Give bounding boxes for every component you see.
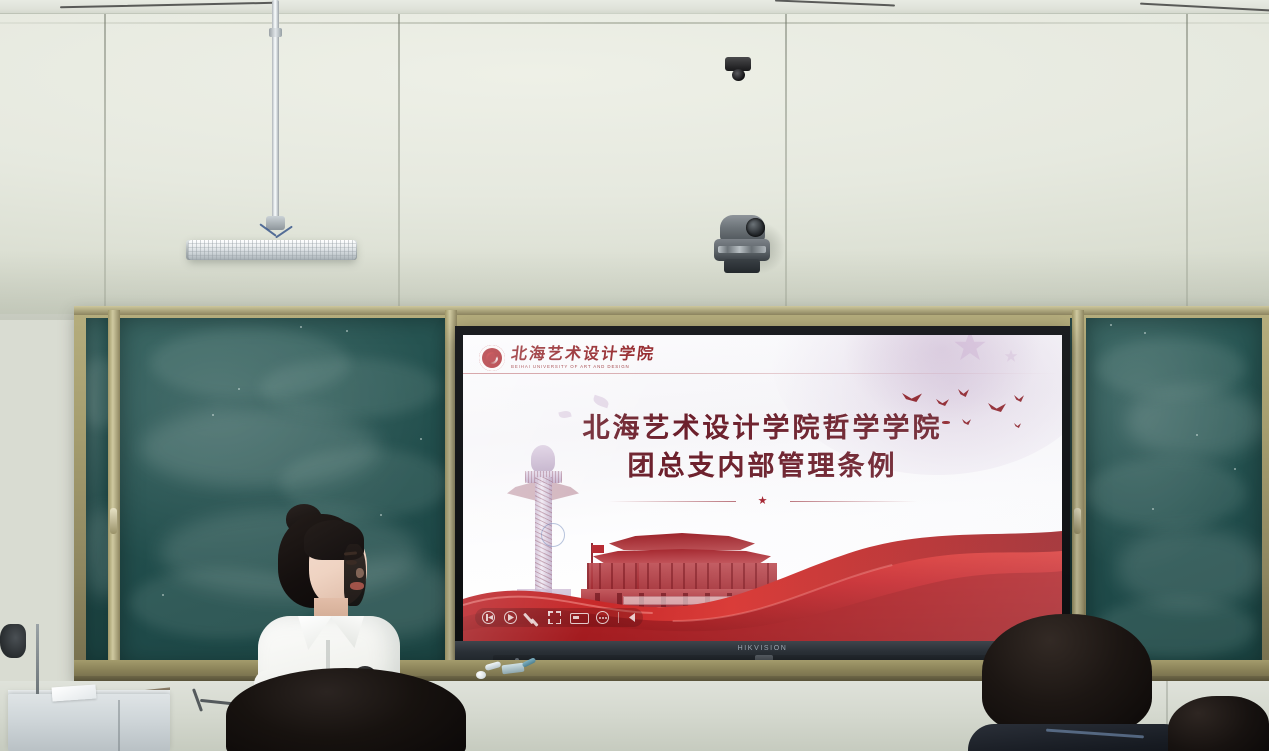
slide-star-decor [953, 335, 987, 363]
wall-horizontal-seam [0, 22, 1269, 24]
ceiling-light-grille [188, 240, 356, 260]
chalk-stick-2[interactable] [476, 671, 486, 679]
board-slide-handle-right[interactable] [1074, 508, 1081, 534]
annotate-pen-icon[interactable] [526, 611, 539, 624]
presenter-nose [356, 568, 364, 578]
wall-camera-lens [732, 69, 745, 81]
presenter-view-icon[interactable] [570, 611, 587, 624]
audience-student-front-right [960, 614, 1190, 751]
board-slider-divider-left[interactable] [108, 310, 120, 666]
ptz-camera-mount [724, 259, 760, 273]
wall-camera-icon [725, 57, 751, 80]
presentation-screen[interactable]: 北海艺术设计学院 BEIHAI UNIVERSITY OF ART AND DE… [463, 335, 1062, 641]
ptz-camera-icon [714, 213, 770, 275]
presenter-mouth [350, 582, 364, 590]
audience-student-front-left [226, 668, 466, 751]
student-head [1168, 696, 1269, 751]
slide-title-ornament: ★ [608, 496, 918, 506]
slide-ornament-star-icon: ★ [758, 496, 768, 506]
more-options-icon[interactable] [596, 611, 609, 624]
ceiling-light-cap [266, 216, 285, 230]
ceiling-light-joint [269, 28, 282, 37]
fullscreen-icon[interactable] [548, 611, 561, 624]
lectern [8, 694, 170, 751]
blackboard-top-rail [74, 306, 1269, 315]
previous-slide-icon[interactable] [482, 611, 495, 624]
student-head [226, 668, 466, 751]
student-shirt [968, 724, 1190, 751]
university-logo-mark-icon [479, 345, 505, 371]
university-logo: 北海艺术设计学院 BEIHAI UNIVERSITY OF ART AND DE… [479, 345, 655, 371]
audience-student-far-right [1168, 696, 1269, 751]
slide-star-decor-small [1004, 349, 1018, 363]
toolbar-separator [618, 612, 619, 623]
presenter-eye [346, 560, 357, 565]
presentation-toolbar[interactable] [475, 608, 643, 627]
ptz-camera-ir-strip [718, 246, 766, 253]
desk-object [0, 624, 26, 658]
ceiling-light-fixture [188, 240, 356, 260]
student-head [982, 614, 1152, 734]
university-logo-text: 北海艺术设计学院 BEIHAI UNIVERSITY OF ART AND DE… [511, 347, 655, 369]
slide-header-rule [463, 373, 1062, 374]
university-name-en: BEIHAI UNIVERSITY OF ART AND DESIGN [511, 365, 655, 369]
board-slider-divider-right[interactable] [1072, 310, 1084, 666]
classroom-scene: 北海艺术设计学院 BEIHAI UNIVERSITY OF ART AND DE… [0, 0, 1269, 751]
ptz-camera-lens [746, 218, 765, 237]
wall-pole [36, 624, 39, 694]
play-slide-icon[interactable] [504, 611, 517, 624]
university-name-cn: 北海艺术设计学院 [510, 347, 656, 363]
slide-petal-decor-1 [592, 395, 610, 409]
board-slide-handle-left[interactable] [110, 508, 117, 534]
slide-title-line-1: 北海艺术设计学院哲学学院 [463, 409, 1062, 447]
back-icon[interactable] [628, 611, 636, 624]
